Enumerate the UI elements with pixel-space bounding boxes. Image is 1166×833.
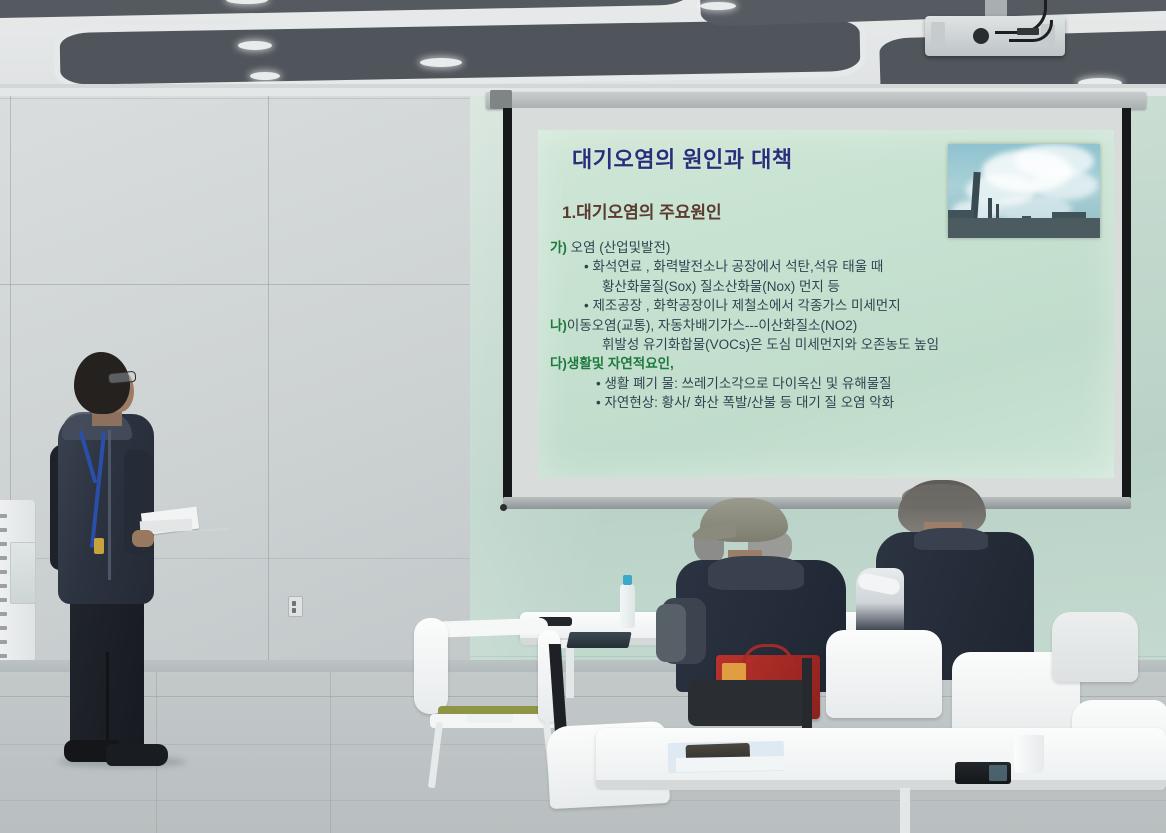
slide-line: • 화석연료 , 화력발전소나 공장에서 석탄,석유 태울 때 xyxy=(550,257,1106,276)
slide-line: 휘발성 유기화합물(VOCs)은 도심 미세먼지와 오존농도 높임 xyxy=(550,335,1106,354)
projector-vent xyxy=(931,22,945,48)
screen-border xyxy=(503,108,512,508)
slide-line-text: 오염 (산업및발전) xyxy=(567,240,670,255)
slide-line: 황산화물질(Sox) 질소산화물(Nox) 먼지 등 xyxy=(550,277,1106,296)
slide-line-text: 생활및 자연적요인, xyxy=(567,356,674,371)
presenter-leg-split xyxy=(106,652,109,748)
table-leg xyxy=(566,644,574,698)
laptop xyxy=(566,632,631,648)
ceiling-panel xyxy=(0,0,690,19)
slide-line: • 생활 폐기 물: 쓰레기소각으로 다이옥신 및 유해물질 xyxy=(550,374,1106,393)
slide-line: • 제조공장 , 화학공장이나 제철소에서 각종가스 미세먼지 xyxy=(550,296,1106,315)
chair-back xyxy=(414,618,448,714)
table-leg xyxy=(900,788,910,833)
wall-outlet xyxy=(288,596,303,617)
chair-back xyxy=(1052,612,1138,682)
presenter-shoe xyxy=(106,744,168,766)
slide-line: 가) 오염 (산업및발전) xyxy=(550,238,1106,257)
slide-line-label: 다) xyxy=(550,356,567,371)
slide-line: 나)이동오염(교통), 자동차배기가스---이산화질소(NO2) xyxy=(550,316,1106,335)
screen-weight xyxy=(500,504,507,511)
slide-section-heading: 1.대기오염의 주요원인 xyxy=(562,198,722,223)
presenter-hand xyxy=(132,530,154,547)
slide-body: 가) 오염 (산업및발전) • 화석연료 , 화력발전소나 공장에서 석탄,석유… xyxy=(550,238,1106,413)
downlight-icon xyxy=(700,2,736,10)
attendee-collar xyxy=(914,528,988,550)
screen-border xyxy=(1122,108,1131,500)
slide-line: 다)생활및 자연적요인, xyxy=(550,354,1106,373)
projection-screen: 대기오염의 원인과 대책 1.대기오염의 주요원인 xyxy=(512,108,1122,500)
chair-under-bag xyxy=(688,680,808,726)
slide-line: • 자연현상: 황사/ 화산 폭발/산불 등 대기 질 오염 악화 xyxy=(550,393,1106,412)
downlight-icon xyxy=(238,41,272,50)
water-bottle xyxy=(620,584,635,628)
paper-on-chair xyxy=(467,714,513,723)
presenter xyxy=(52,352,202,792)
downlight-icon xyxy=(250,72,280,80)
ceiling-projector xyxy=(925,6,1075,68)
slide-line-label: 나) xyxy=(550,318,567,333)
phone-screen xyxy=(989,765,1007,781)
ceiling-panel xyxy=(60,19,861,85)
slide-content: 대기오염의 원인과 대책 1.대기오염의 주요원인 xyxy=(538,130,1114,478)
jacket-hood xyxy=(708,556,804,590)
attendee-sleeve xyxy=(656,604,686,662)
paper-sheet xyxy=(676,756,784,772)
smokestack-photo xyxy=(948,144,1100,238)
smartphone-near xyxy=(955,762,1011,784)
slide-line-text: 이동오염(교통), 자동차배기가스---이산화질소(NO2) xyxy=(567,318,857,333)
bottle-cap xyxy=(623,575,632,585)
slide-title: 대기오염의 원인과 대책 xyxy=(572,142,793,174)
projector-lens xyxy=(973,28,989,44)
id-badge xyxy=(94,538,104,554)
classroom-photo: 대기오염의 원인과 대책 1.대기오염의 주요원인 xyxy=(0,0,1166,833)
screen-roller-bracket xyxy=(490,90,512,109)
chair-back xyxy=(826,630,942,718)
purifier-panel xyxy=(10,542,36,604)
projector-port xyxy=(1017,28,1039,35)
attendee-hair-highlight xyxy=(902,484,978,510)
screen-roller-housing xyxy=(486,92,1146,109)
downlight-icon xyxy=(420,58,462,67)
paper-cup xyxy=(1014,735,1044,773)
table-edge xyxy=(596,780,1166,790)
slide-line-label: 가) xyxy=(550,240,567,255)
vest-zipper xyxy=(108,430,111,580)
